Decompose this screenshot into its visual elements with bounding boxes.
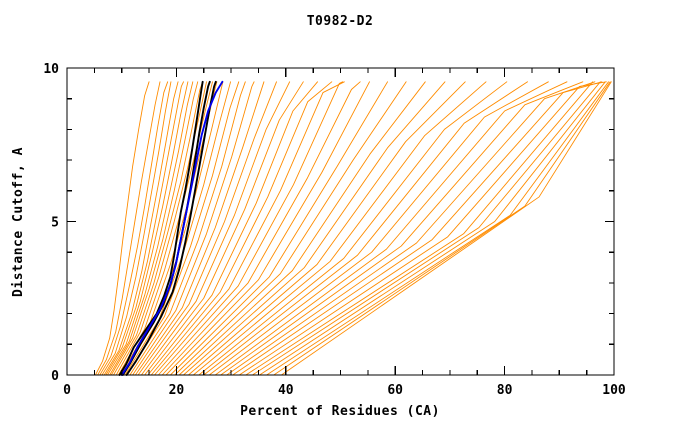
curves-layer [95,82,611,375]
model-curve [179,82,425,375]
chart-page: T0982-D2 0204060801000510 Percent of Res… [0,0,680,440]
y-tick-label: 0 [51,369,59,384]
model-curve [267,82,609,375]
model-curve [252,82,600,375]
x-tick-label: 100 [602,383,626,398]
x-tick-label: 20 [169,383,185,398]
x-tick-label: 60 [387,383,403,398]
y-tick-label: 10 [43,62,59,77]
model-curve [281,82,611,375]
model-curve [233,82,602,375]
x-tick-label: 80 [497,383,513,398]
model-curve [162,82,360,375]
axis-tick-labels: 0204060801000510 [43,62,626,398]
distance-cutoff-plot: 0204060801000510 Percent of Residues (CA… [0,0,680,440]
model-curve [98,82,160,375]
model-curve [102,82,171,375]
y-axis-label: Distance Cutoff, A [11,147,26,297]
x-tick-label: 0 [63,383,71,398]
model-curve [199,82,507,375]
y-tick-label: 5 [51,216,59,231]
model-curve [260,82,606,375]
model-curve [239,82,606,375]
x-tick-label: 40 [278,383,294,398]
x-axis-label: Percent of Residues (CA) [240,404,440,419]
